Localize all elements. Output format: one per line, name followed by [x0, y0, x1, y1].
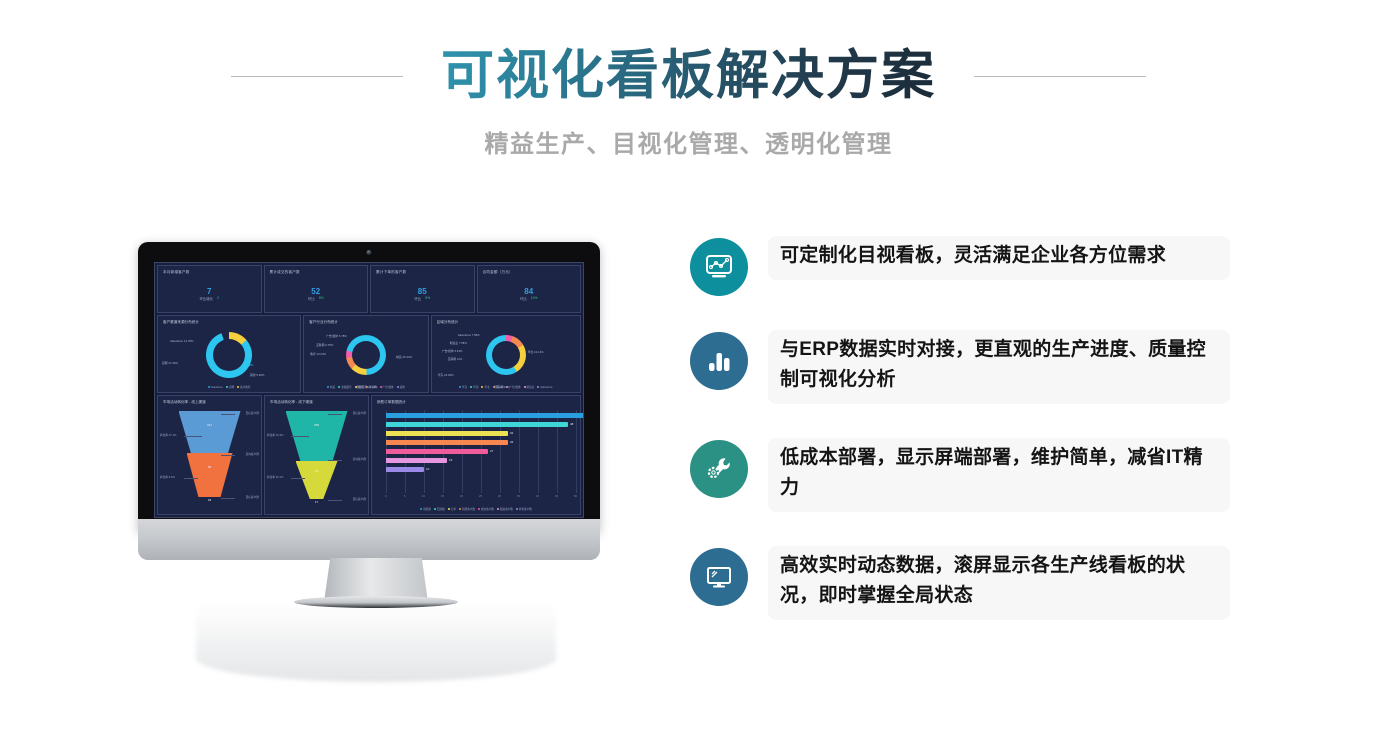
funnel-chart: 317 68 18 目标客户群 意向客户群 目标客户群 转化率 47.1% 转化…	[158, 405, 261, 514]
funnel-stage-label: 意向客户群	[246, 452, 259, 456]
funnel-bottom-value: 17	[315, 500, 318, 504]
bar-value: 32	[510, 440, 513, 444]
legend-label: 华北	[484, 385, 489, 389]
legend-label: 广告/媒体	[509, 385, 520, 389]
funnel-bottom-value: 18	[208, 498, 211, 502]
legend-label: 华南	[473, 385, 478, 389]
kpi-title: 累计成交的客户数	[265, 266, 368, 275]
monitor-reflection	[196, 604, 556, 682]
donut-slice-label: 其他 5.28%	[250, 373, 264, 377]
funnel-rate-label: 转化率 8.5%	[160, 475, 175, 479]
donut-slice-label: 官网 27.06%	[162, 361, 178, 365]
donut-chart	[206, 332, 252, 378]
legend-label: 广告/媒体	[383, 385, 394, 389]
funnel-chart: 258 55 17 目标客户群 意向客户群 目标客户群 转化率 19.3% 转化…	[265, 405, 368, 514]
kpi-row: 本月新增客户数 7 环比增长 2 累计成交的客户数 52	[157, 265, 581, 313]
funnel-stage-label: 意向客户群	[353, 457, 366, 461]
funnel-value: 55	[315, 469, 318, 473]
kpi-card[interactable]: 累计成交的客户数 52 环比 5%	[264, 265, 369, 313]
kpi-delta: 5%	[319, 296, 324, 300]
bar	[386, 467, 424, 472]
legend-label: 订单	[451, 507, 456, 511]
donut-row: 客户渠道来源分布统计 Salesforce 13.78% 官网 27.06% 客…	[157, 315, 581, 393]
wrench-gear-icon	[690, 440, 748, 498]
donut-slice-label: 华北 12.14%	[528, 350, 544, 354]
donut-panel[interactable]: 客户渠道来源分布统计 Salesforce 13.78% 官网 27.06% 客…	[157, 315, 301, 393]
x-tick: 0	[385, 495, 386, 498]
legend-label: 其他	[400, 385, 405, 389]
funnel-panel[interactable]: 市场活动转化率 - 线下渠道 258 55 17 目标客户群 意向客户群 目标客…	[264, 395, 369, 515]
kpi-delta: 2	[217, 296, 219, 300]
funnel-value: 258	[314, 423, 319, 427]
webcam-icon	[367, 250, 372, 255]
kpi-delta: 10%	[531, 296, 538, 300]
funnel-stage-label: 目标客户群	[353, 497, 366, 501]
bar-value: 32	[510, 431, 513, 435]
bar-chart-legend: 销售额 回款额 订单 新增客户数 成交客户数 跟进客户数 转化客户数	[372, 507, 580, 514]
bar	[386, 458, 447, 463]
monitor-line-chart-icon	[690, 238, 748, 296]
funnel-panel[interactable]: 市场活动转化率 - 线上渠道 317 68 18 目标客户群 意向客户群 目标客…	[157, 395, 262, 515]
funnel-rate-label: 转化率 19.3%	[267, 433, 283, 437]
bar	[386, 413, 584, 418]
bar-value: 10	[426, 467, 429, 471]
kpi-title: 合同金额（万元）	[478, 266, 581, 275]
feature-text: 可定制化目视看板，灵活满足企业各方位需求	[768, 236, 1230, 280]
funnel-segment	[179, 411, 241, 453]
donut-slice-label: 华南 28.18%	[494, 385, 510, 389]
bar	[386, 422, 568, 427]
bar-chart-icon	[690, 332, 748, 390]
donut-slice-label: 华东 24.18%	[438, 373, 454, 377]
title-row: 可视化看板解决方案	[0, 45, 1377, 107]
bar-chart: 52 48 32 32 27 16 10 0 5 10 15 20	[372, 405, 580, 507]
bar-value: 48	[570, 422, 573, 426]
kpi-card[interactable]: 合同金额（万元） 84 环比 10%	[477, 265, 582, 313]
chart-row: 市场活动转化率 - 线上渠道 317 68 18 目标客户群 意向客户群 目标客…	[157, 395, 581, 515]
feature-text: 高效实时动态数据，滚屏显示各生产线看板的状况，即时掌握全局状态	[768, 546, 1230, 620]
panel-title: 客户行业分布统计	[304, 316, 428, 325]
dashboard: 本月新增客户数 7 环比增长 2 累计成交的客户数 52	[155, 263, 583, 517]
kpi-value: 84	[524, 287, 533, 296]
legend-label: 制造	[330, 385, 335, 389]
donut-slice-label: 互联网 11%	[448, 357, 463, 361]
funnel-rate-label: 转化率 30.1%	[267, 475, 283, 479]
donut-slice-label: 广告/媒体 5.78%	[326, 334, 347, 338]
legend-label: 制造业	[527, 385, 535, 389]
x-tick: 10	[422, 495, 425, 498]
x-tick: 20	[460, 495, 463, 498]
monitor-screen: 本月新增客户数 7 环比增长 2 累计成交的客户数 52	[154, 262, 584, 518]
donut-legend: Salesforce 官网 客户推荐	[158, 385, 300, 392]
donut-slice-label: 互联网 9.78%	[316, 343, 333, 347]
donut-slice-label: Salesforce 13.78%	[170, 339, 193, 343]
x-tick: 25	[479, 495, 482, 498]
legend-label: 成交客户数	[481, 507, 494, 511]
legend-label: Salesforce	[540, 386, 552, 389]
feature-text: 与ERP数据实时对接，更直观的生产进度、质量控制可视化分析	[768, 330, 1230, 404]
donut-slice-label: 制造业 7.58%	[450, 341, 467, 345]
bar	[386, 431, 508, 436]
x-tick: 45	[555, 495, 558, 498]
legend-label: 转化客户数	[519, 507, 532, 511]
legend-label: 金融服务	[341, 385, 351, 389]
donut-panel[interactable]: 客户行业分布统计 广告/媒体 5.78% 互联网 9.78% 教育 13.24%…	[303, 315, 429, 393]
panel-title: 市场活动转化率 - 线上渠道	[158, 396, 261, 405]
legend-label: Salesforce	[211, 386, 223, 389]
kpi-card[interactable]: 累计下单的客户数 85 环比 9%	[370, 265, 475, 313]
title-rule-left	[231, 76, 403, 77]
feature-item[interactable]: 高效实时动态数据，滚屏显示各生产线看板的状况，即时掌握全局状态	[690, 548, 1230, 620]
feature-list: 可定制化目视看板，灵活满足企业各方位需求 与ERP数据实时对接，更直观的生产进度…	[690, 238, 1230, 620]
bar	[386, 440, 508, 445]
kpi-value: 85	[418, 287, 427, 296]
kpi-title: 本月新增客户数	[158, 266, 261, 275]
kpi-sub-label: 环比	[414, 296, 421, 301]
x-tick: 15	[441, 495, 444, 498]
funnel-stage-label: 目标客户群	[353, 411, 366, 415]
donut-slice-label: 教育 13.24%	[310, 352, 326, 356]
kpi-value: 7	[207, 287, 211, 296]
panel-title: 区域分布统计	[432, 316, 580, 325]
legend-label: 官网	[229, 385, 234, 389]
x-tick: 5	[404, 495, 405, 498]
display-screen-icon	[690, 548, 748, 606]
bar-chart-panel[interactable]: 销售订单数据统计	[371, 395, 581, 515]
kpi-card[interactable]: 本月新增客户数 7 环比增长 2	[157, 265, 262, 313]
feature-item[interactable]: 与ERP数据实时对接，更直观的生产进度、质量控制可视化分析	[690, 332, 1230, 404]
legend-label: 华东	[462, 385, 467, 389]
donut-slice-label: Salesforce 7.58%	[458, 333, 480, 337]
funnel-value: 317	[207, 423, 212, 427]
panel-title: 市场活动转化率 - 线下渠道	[265, 396, 368, 405]
page-header: 可视化看板解决方案 精益生产、目视化管理、透明化管理	[0, 0, 1377, 185]
funnel-rate-label: 转化率 47.1%	[160, 433, 176, 437]
x-tick: 35	[517, 495, 520, 498]
funnel-segment	[187, 453, 233, 497]
donut-chart	[486, 335, 526, 375]
funnel-stage-label: 目标客户群	[246, 411, 259, 415]
legend-label: 回款额	[437, 507, 445, 511]
funnel-value: 68	[208, 465, 211, 469]
bar	[386, 449, 488, 454]
kpi-sub-label: 环比	[520, 296, 527, 301]
page-subtitle: 精益生产、目视化管理、透明化管理	[0, 124, 1377, 159]
donut-slice-label: 金融服务 24.34%	[356, 385, 377, 389]
kpi-sub-label: 环比增长	[200, 296, 214, 301]
funnel-stage-label: 目标客户群	[246, 495, 259, 499]
donut-slice-label: 制造 25.34%	[396, 355, 412, 359]
legend-label: 客户推荐	[240, 385, 250, 389]
kpi-value: 52	[311, 287, 320, 296]
monitor-illustration: 本月新增客户数 7 环比增长 2 累计成交的客户数 52	[116, 232, 636, 672]
title-rule-right	[974, 76, 1146, 77]
donut-panel[interactable]: 区域分布统计 Salesforce 7.58% 制造业 7.58% 广告/媒体 …	[431, 315, 581, 393]
x-tick: 50	[574, 495, 577, 498]
kpi-delta: 9%	[425, 296, 430, 300]
legend-label: 新增客户数	[462, 507, 475, 511]
bar-value: 27	[490, 449, 493, 453]
monitor-bezel: 本月新增客户数 7 环比增长 2 累计成交的客户数 52	[138, 242, 600, 532]
funnel-segment	[296, 461, 338, 499]
feature-text: 低成本部署，显示屏端部署，维护简单，减省IT精力	[768, 438, 1230, 512]
page-title: 可视化看板解决方案	[441, 45, 936, 107]
kpi-sub-label: 环比	[308, 296, 315, 301]
legend-label: 销售额	[423, 507, 431, 511]
kpi-title: 累计下单的客户数	[371, 266, 474, 275]
donut-slice-label: 广告/媒体 5.63%	[442, 349, 463, 353]
feature-item[interactable]: 低成本部署，显示屏端部署，维护简单，减省IT精力	[690, 440, 1230, 512]
bar-value: 16	[449, 458, 452, 462]
donut-chart	[346, 335, 386, 375]
panel-title: 销售订单数据统计	[372, 396, 580, 405]
legend-label: 跟进客户数	[500, 507, 513, 511]
feature-item[interactable]: 可定制化目视看板，灵活满足企业各方位需求	[690, 238, 1230, 296]
monitor-chin	[138, 519, 600, 560]
x-tick: 40	[536, 495, 539, 498]
x-tick: 30	[498, 495, 501, 498]
panel-title: 客户渠道来源分布统计	[158, 316, 300, 325]
